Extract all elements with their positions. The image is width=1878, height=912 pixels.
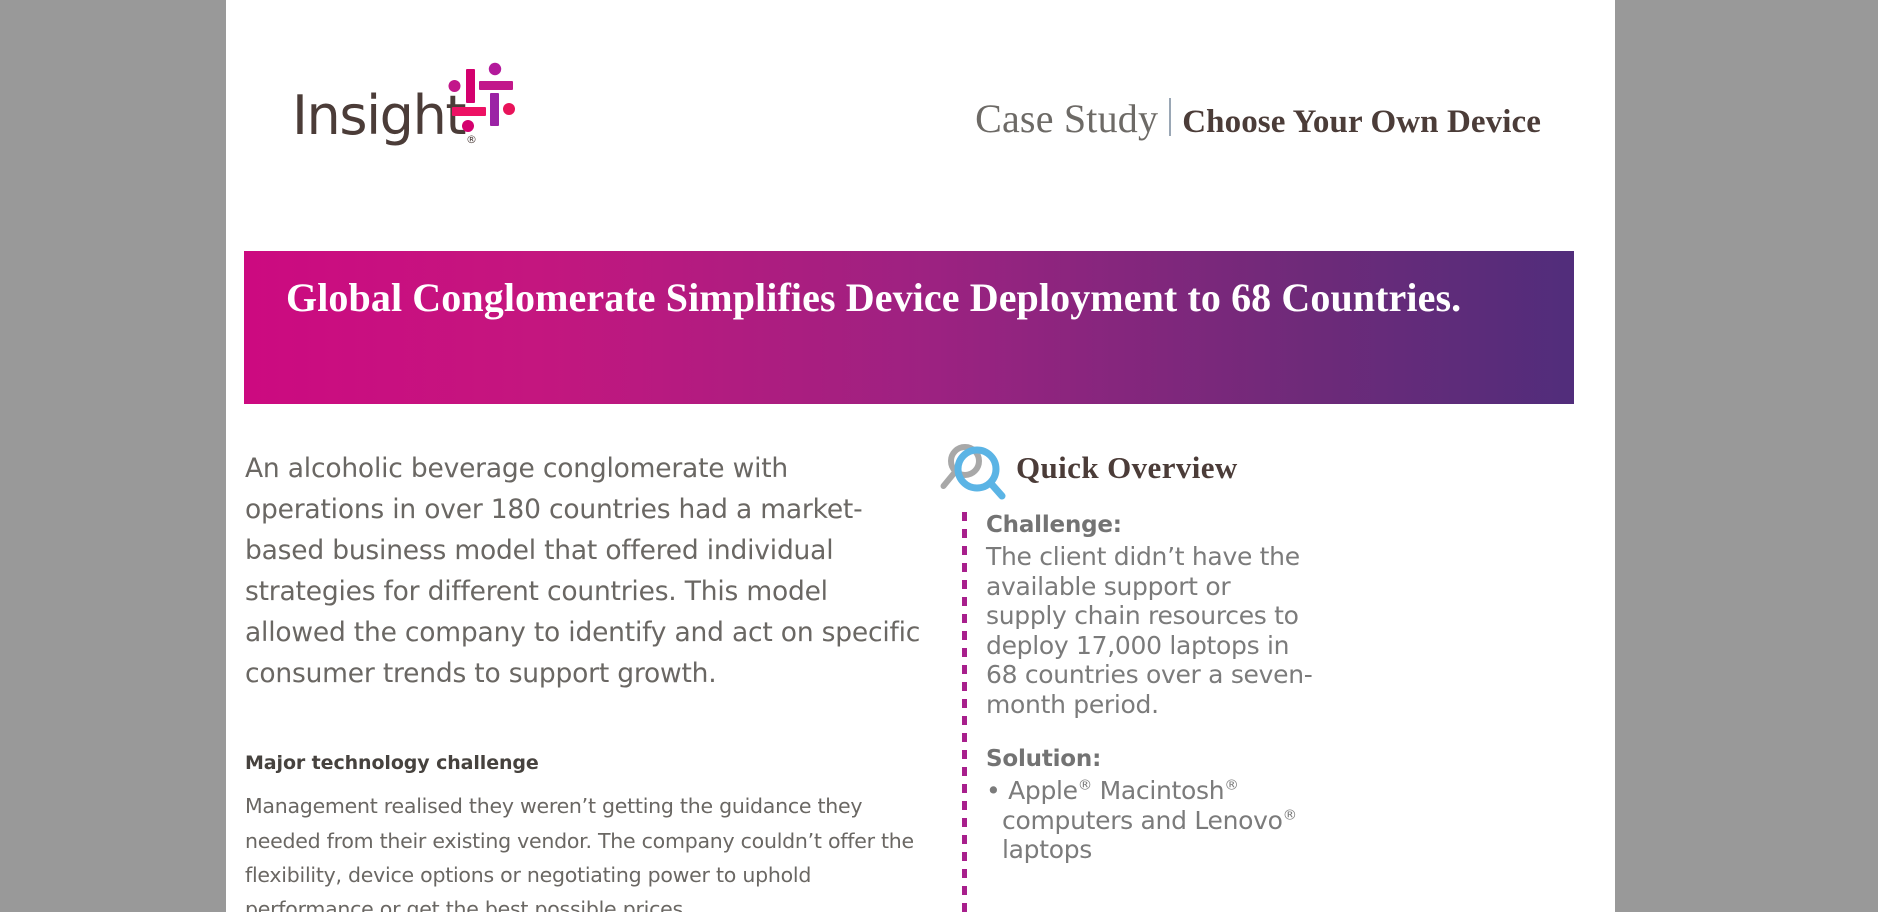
kicker-topic: Choose Your Own Device	[1182, 104, 1541, 140]
quick-overview-body: Challenge: The client didn’t have the av…	[932, 512, 1592, 912]
document-page: Insight ®	[226, 0, 1615, 912]
solution-bullet-item: • Apple® Macintosh® computers and Lenovo…	[986, 776, 1347, 865]
insight-logo[interactable]: Insight ®	[292, 55, 552, 145]
header-kicker: Case StudyChoose Your Own Device	[975, 98, 1541, 139]
magnifying-glass-icon	[936, 442, 1010, 504]
insight-logomark-icon	[448, 55, 516, 133]
dashed-vertical-divider	[962, 512, 967, 912]
quick-overview-title: Quick Overview	[1016, 450, 1238, 486]
solution-block: Solution: • Apple® Macintosh® computers …	[986, 746, 1592, 865]
section-heading-major-technology-challenge: Major technology challenge	[245, 752, 935, 774]
quick-overview-header: Quick Overview	[932, 440, 1592, 502]
insight-wordmark: Insight	[292, 89, 465, 143]
challenge-label: Challenge:	[986, 512, 1592, 538]
section-body-major-technology-challenge: Management realised they weren’t getting…	[245, 789, 935, 912]
solution-label: Solution:	[986, 746, 1592, 772]
challenge-text: The client didn’t have the available sup…	[986, 542, 1316, 719]
registered-trademark-symbol: ®	[466, 133, 477, 146]
title-banner: Global Conglomerate Simplifies Device De…	[244, 251, 1574, 404]
page-title: Global Conglomerate Simplifies Device De…	[286, 274, 1536, 323]
screenshot-viewport: Insight ®	[0, 0, 1878, 912]
challenge-block: Challenge: The client didn’t have the av…	[986, 512, 1592, 719]
kicker-divider	[1169, 98, 1171, 136]
kicker-case-study: Case Study	[975, 96, 1158, 141]
intro-paragraph: An alcoholic beverage conglomerate with …	[245, 448, 935, 694]
document-header: Insight ®	[226, 0, 1615, 200]
main-content-column: An alcoholic beverage conglomerate with …	[245, 448, 935, 912]
quick-overview-sidebar: Quick Overview Challenge: The client did…	[932, 440, 1592, 912]
